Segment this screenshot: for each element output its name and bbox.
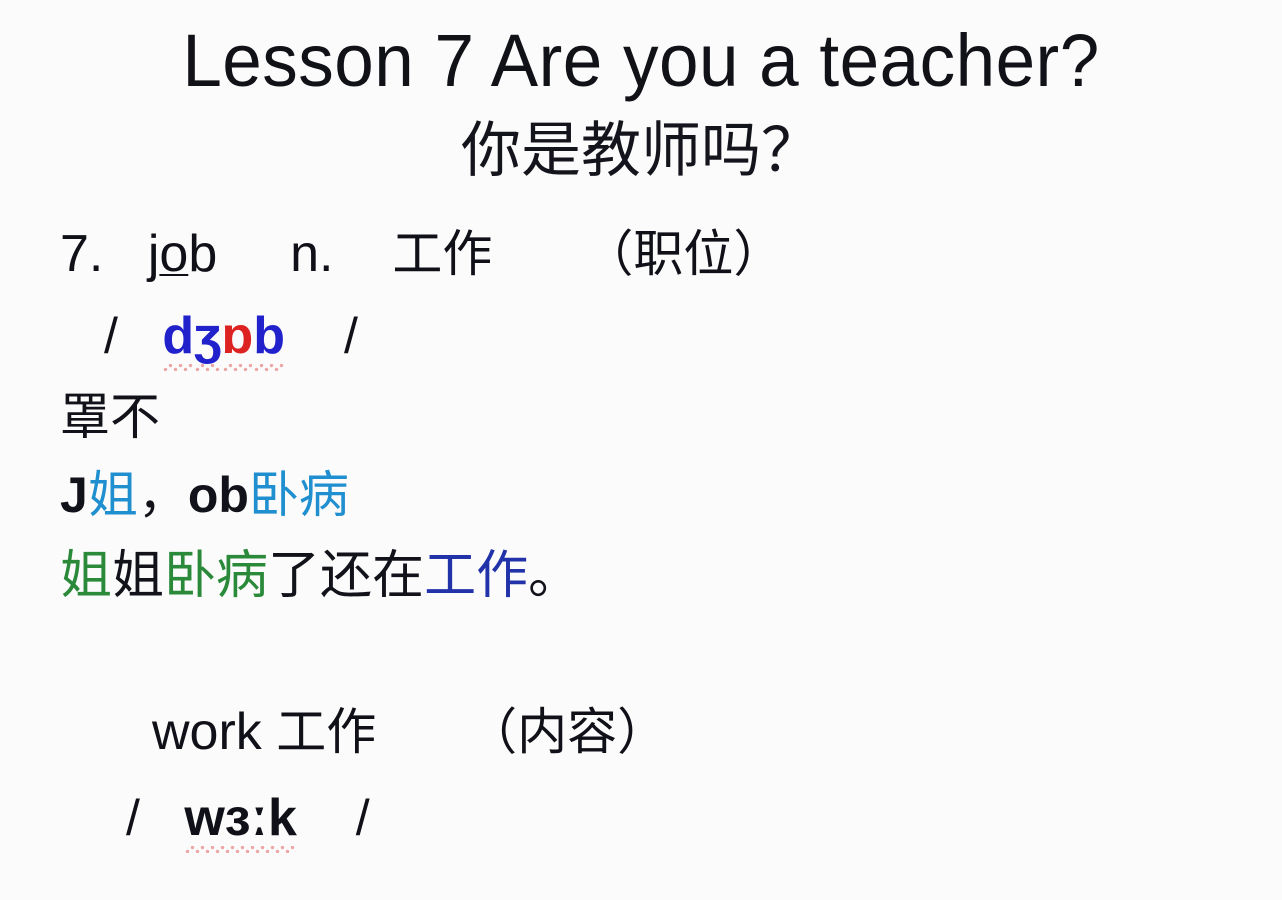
phonetic-open-slash: / [104,308,118,364]
ipa-symbol-b: b [253,310,285,362]
entry-word-part-1: j [148,225,160,283]
mnemonic-letters-ob: ob [188,467,249,523]
phonetic-close-slash: / [344,308,358,364]
entry-word-underlined-o: o [159,225,188,283]
phonetic-work: / wɜːk / [126,792,370,844]
vocabulary-entry-work: work 工作 （内容） [152,706,667,758]
vocabulary-entry-job: 7. job n. 工作 （职位） [60,228,783,280]
mnemonic-line-3: 姐姐卧病了还在工作。 [60,550,580,602]
ipa-work-symbols: wɜːk [184,792,297,844]
phonetic-job: / dʒɒb / [104,310,358,362]
mnemonic-line-1: 罩不 [60,392,160,442]
ipa-symbol-ezh: ʒ [194,310,221,362]
mnemonic-chars-wobing: 卧病 [249,466,349,524]
slide-title-chinese: 你是教师吗？ [0,120,1282,183]
slide-canvas: Lesson 7 Are you a teacher? 你是教师吗？ 7. jo… [0,0,1282,900]
phonetic-work-open-slash: / [126,790,140,846]
entry-number: 7. [60,225,103,283]
mnemonic-char-jie-green: 姐 [60,546,112,606]
ipa-symbol-d: d [162,310,194,362]
entry-part-of-speech: n. [290,225,333,283]
slide-title-english: Lesson 7 Are you a teacher? [26,24,1257,98]
entry-word-part-3: b [188,225,217,283]
work-note-chinese: （内容） [467,703,667,761]
mnemonic-char-jie-black: 姐 [112,546,164,606]
mnemonic-char-jie: 姐 [88,466,138,524]
ipa-symbol-open-o: ɒ [222,310,254,362]
work-word: work [152,703,262,761]
phonetic-work-close-slash: / [356,790,370,846]
mnemonic-letter-j: J [60,467,88,523]
mnemonic-line-2: J姐，ob卧病 [60,470,349,520]
mnemonic-chars-wobing-green: 卧病 [164,546,268,606]
mnemonic-chars-middle: 了还在 [268,546,424,606]
work-meaning-chinese: 工作 [276,703,376,761]
mnemonic-period: 。 [528,546,580,606]
mnemonic-comma: ， [138,466,188,524]
entry-meaning-chinese: 工作 [392,225,492,283]
mnemonic-chars-gongzuo-blue: 工作 [424,546,528,606]
entry-note-chinese: （职位） [583,225,783,283]
